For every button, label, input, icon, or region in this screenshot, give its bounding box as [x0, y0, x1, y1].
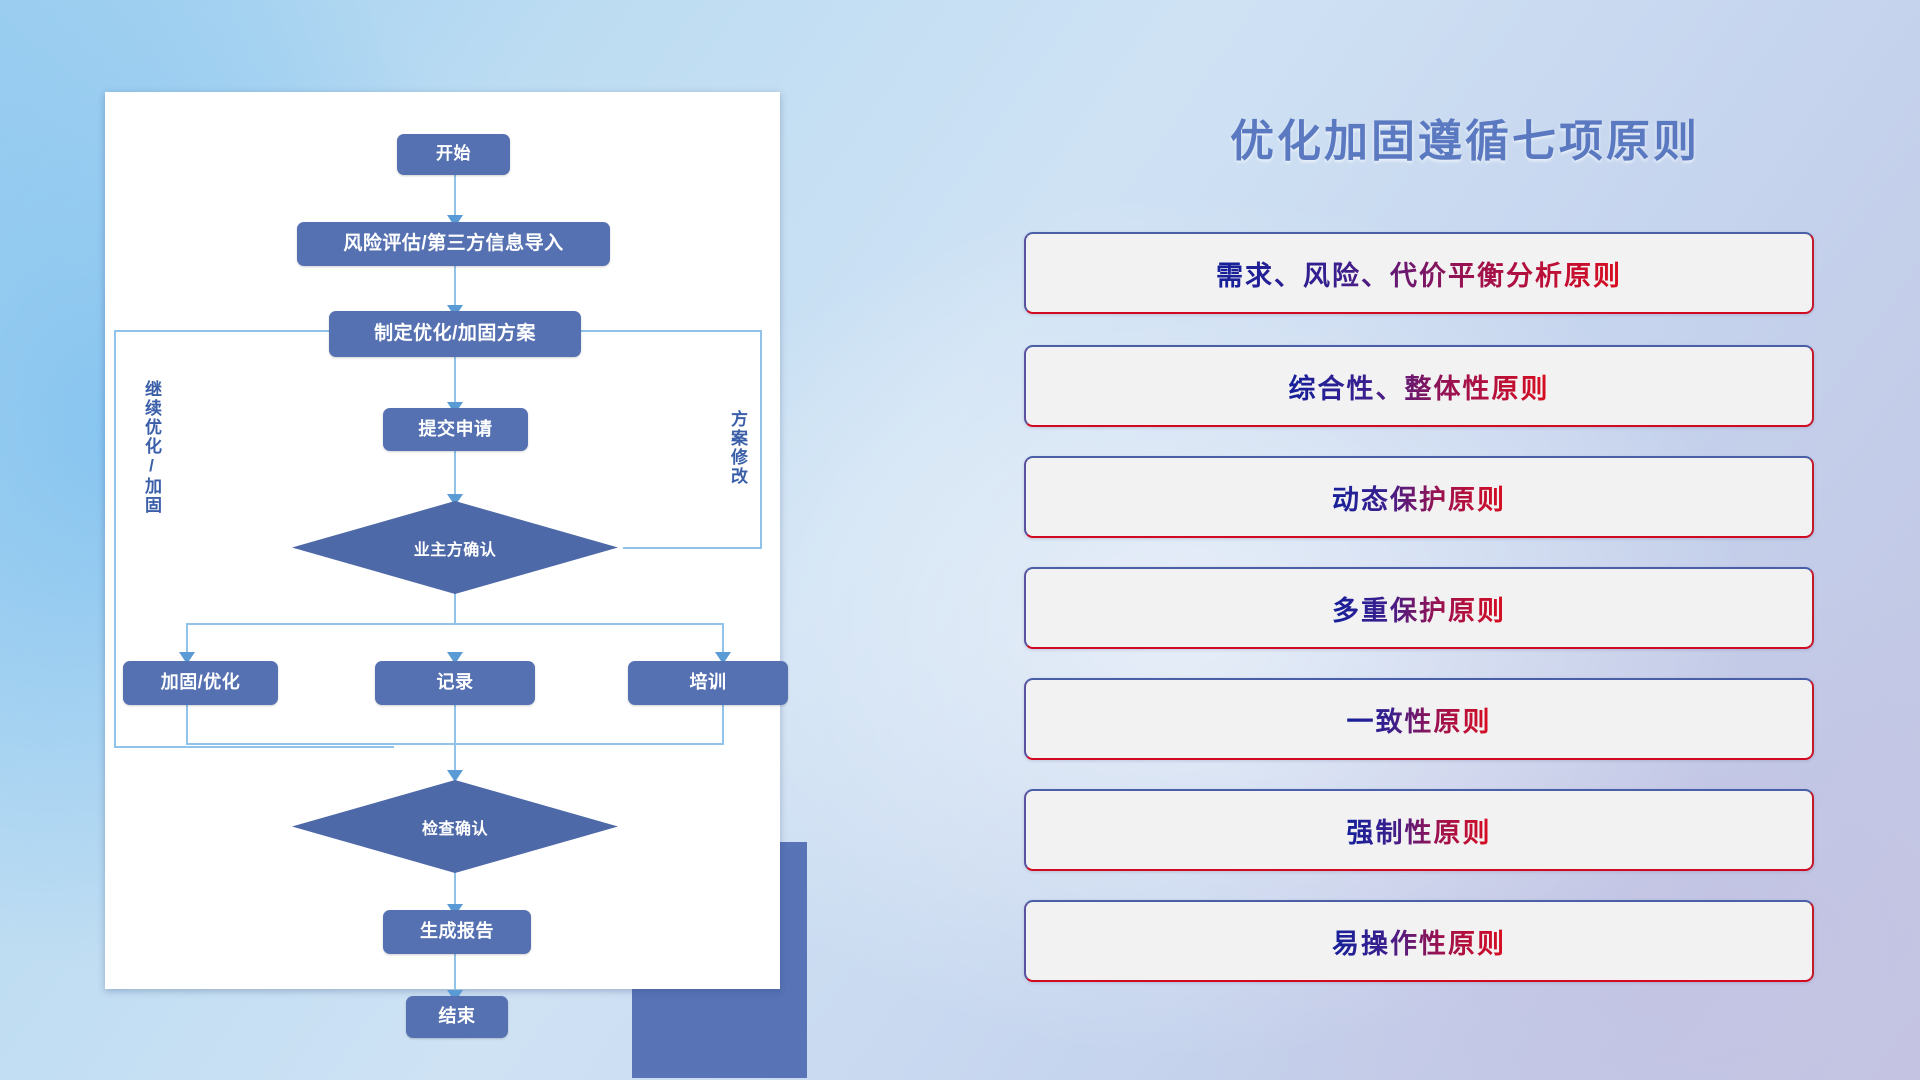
flowchart-panel: 方案修改 继续优化/加固 开始 风险评估/第三方信息导入 制定优化/加固方案 提… — [105, 92, 795, 997]
flow-node-start[interactable]: 开始 — [397, 134, 510, 175]
principle-card-7-label: 易操作性原则 — [1332, 922, 1506, 961]
flow-node-make-plan[interactable]: 制定优化/加固方案 — [329, 311, 581, 357]
principle-card-1-label: 需求、风险、代价平衡分析原则 — [1216, 254, 1622, 293]
flow-node-owner-confirm-label: 业主方确认 — [292, 501, 618, 594]
connector-left-up — [114, 330, 116, 748]
connector-owner-right — [623, 547, 762, 549]
edge-label-right-loop: 方案修改 — [729, 410, 746, 486]
connector-record-down — [454, 705, 456, 777]
flow-node-risk-assessment[interactable]: 风险评估/第三方信息导入 — [297, 222, 610, 266]
principle-card-4-label: 多重保护原则 — [1332, 589, 1506, 628]
flow-node-owner-confirm[interactable]: 业主方确认 — [292, 501, 618, 594]
flow-node-check-confirm[interactable]: 检查确认 — [292, 780, 618, 873]
principle-card-3-label: 动态保护原则 — [1332, 478, 1506, 517]
connector-reinforce-down — [186, 705, 188, 745]
flow-node-end[interactable]: 结束 — [406, 996, 508, 1038]
principle-card-7[interactable]: 易操作性原则 — [1024, 900, 1814, 982]
flow-node-record[interactable]: 记录 — [375, 661, 535, 705]
connector-check-left — [114, 746, 394, 748]
page-title: 优化加固遵循七项原则 — [1010, 105, 1920, 169]
principles-panel: 优化加固遵循七项原则 需求、风险、代价平衡分析原则 综合性、整体性原则 动态保护… — [1010, 0, 1920, 1080]
connector-right-up — [760, 330, 762, 549]
principle-card-2-label: 综合性、整体性原则 — [1289, 367, 1550, 406]
principle-card-6[interactable]: 强制性原则 — [1024, 789, 1814, 871]
connector-right-to-plan — [575, 330, 762, 332]
flow-node-generate-report[interactable]: 生成报告 — [383, 910, 531, 954]
edge-label-left-loop: 继续优化/加固 — [143, 380, 160, 515]
principle-card-5-label: 一致性原则 — [1347, 700, 1492, 739]
connector-training-down — [722, 705, 724, 745]
principle-card-2[interactable]: 综合性、整体性原则 — [1024, 345, 1814, 427]
principle-card-5[interactable]: 一致性原则 — [1024, 678, 1814, 760]
principle-card-3[interactable]: 动态保护原则 — [1024, 456, 1814, 538]
connector-left-to-plan — [114, 330, 333, 332]
connector-branch-bus — [186, 623, 723, 625]
flow-node-training[interactable]: 培训 — [628, 661, 788, 705]
connector-owner-down — [454, 590, 456, 624]
flow-node-reinforce-optimize[interactable]: 加固/优化 — [123, 661, 278, 705]
flow-node-check-confirm-label: 检查确认 — [292, 780, 618, 873]
principle-card-4[interactable]: 多重保护原则 — [1024, 567, 1814, 649]
flow-node-submit-application[interactable]: 提交申请 — [383, 408, 528, 451]
principle-card-6-label: 强制性原则 — [1347, 811, 1492, 850]
principle-card-1[interactable]: 需求、风险、代价平衡分析原则 — [1024, 232, 1814, 314]
